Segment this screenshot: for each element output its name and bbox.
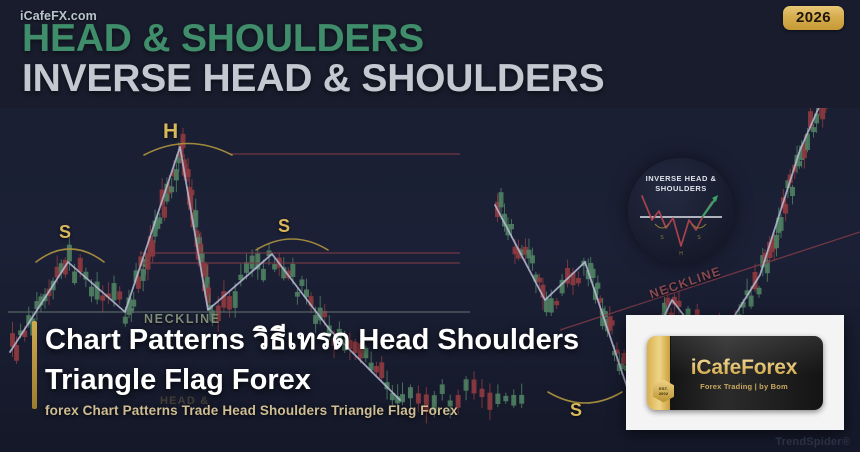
est-seal-line2: 2002 bbox=[659, 391, 668, 396]
badge-pattern-diagram: S S H bbox=[628, 158, 734, 264]
brand-tagline: Forex Trading | by Bom bbox=[671, 382, 817, 391]
svg-text:S: S bbox=[697, 235, 701, 241]
year-badge: 2026 bbox=[783, 6, 844, 30]
page-title-secondary: INVERSE HEAD & SHOULDERS bbox=[22, 58, 604, 100]
inverse-head-shoulders-badge: INVERSE HEAD & SHOULDERS S S H bbox=[628, 158, 734, 264]
brand-logo-card: iCafeForex Forex Trading | by Bom EST. 2… bbox=[647, 336, 823, 410]
svg-text:S: S bbox=[660, 235, 664, 241]
forex-pattern-banner: iCafeFX.com HEAD & SHOULDERS INVERSE HEA… bbox=[0, 0, 860, 452]
brand-name: iCafeForex bbox=[671, 356, 817, 380]
subheadline-text: forex Chart Patterns Trade Head Shoulder… bbox=[45, 403, 458, 418]
headline-accent-bar bbox=[32, 321, 37, 409]
headline-text: Chart Patterns วิธีเทรด Head Shoulders T… bbox=[45, 320, 645, 400]
svg-text:H: H bbox=[679, 251, 683, 257]
page-title-primary: HEAD & SHOULDERS bbox=[22, 18, 424, 60]
brand-logo-frame: iCafeForex Forex Trading | by Bom EST. 2… bbox=[626, 315, 844, 430]
